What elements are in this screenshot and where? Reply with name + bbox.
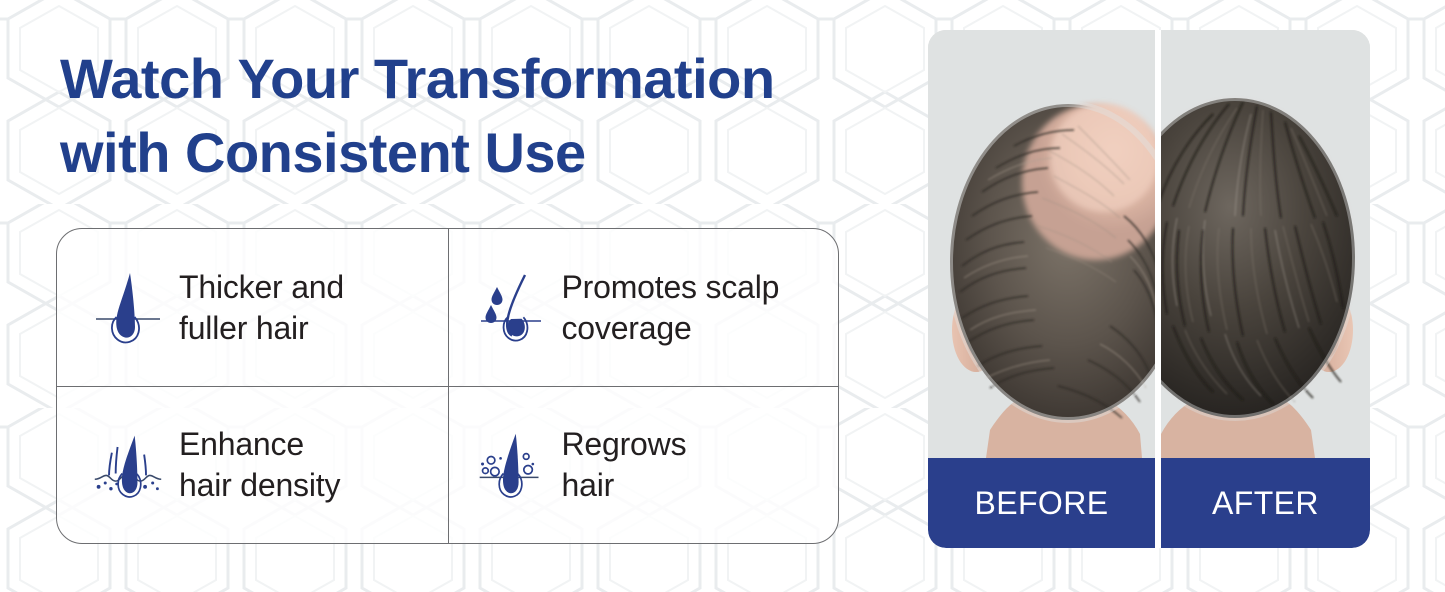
before-label: BEFORE (928, 458, 1155, 548)
hair-follicle-icon (91, 267, 165, 349)
before-photo (928, 30, 1155, 458)
benefit-item-enhance-hair-density[interactable]: Enhance hair density (57, 386, 448, 543)
benefit-label: Regrows hair (562, 424, 687, 506)
photo-divider (1155, 30, 1161, 458)
grid-divider-horizontal (57, 386, 838, 387)
benefit-label: Thicker and fuller hair (179, 267, 344, 349)
benefit-label: Promotes scalp coverage (562, 267, 780, 349)
comparison-label-band: BEFORE AFTER (928, 458, 1370, 548)
follicle-droplets-icon (474, 267, 548, 349)
page-title: Watch Your Transformation with Consisten… (60, 42, 890, 190)
after-photo (1161, 30, 1370, 458)
follicle-bubbles-icon (474, 424, 548, 506)
follicle-density-icon (91, 424, 165, 506)
benefit-item-promotes-scalp-coverage[interactable]: Promotes scalp coverage (448, 229, 839, 386)
photo-area (928, 30, 1370, 458)
before-after-panel: BEFORE AFTER (928, 30, 1370, 548)
promo-banner: Watch Your Transformation with Consisten… (0, 0, 1445, 592)
benefit-item-thicker-fuller-hair[interactable]: Thicker and fuller hair (57, 229, 448, 386)
benefits-card: Thicker and fuller hair Promotes scalp c… (56, 228, 839, 544)
benefit-item-regrows-hair[interactable]: Regrows hair (448, 386, 839, 543)
benefit-label: Enhance hair density (179, 424, 340, 506)
after-label: AFTER (1161, 458, 1370, 548)
